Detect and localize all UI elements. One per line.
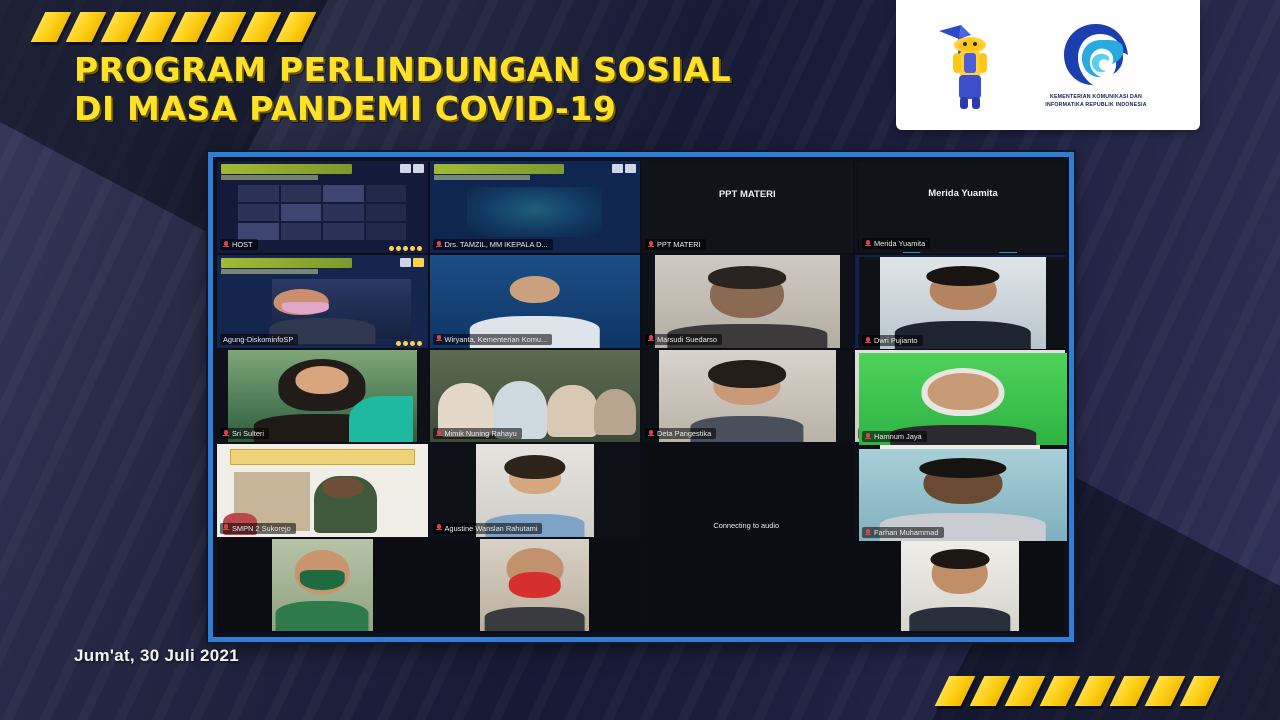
participant-name-badge: Hamnum Jaya (862, 431, 927, 442)
kominfo-logo: KEMENTERIAN KOMUNIKASI DAN INFORMATIKA R… (1031, 21, 1161, 108)
chevron-bar (171, 12, 212, 42)
participant-label: PPT MATERI (657, 240, 701, 249)
participant-tile-dwri[interactable]: Dwri Pujianto (859, 257, 1067, 349)
participant-tile-23[interactable] (642, 539, 853, 631)
title-line-1: PROGRAM PERLINDUNGAN SOSIAL (74, 50, 731, 89)
microphone-muted-icon (648, 430, 654, 438)
participant-label: HOST (232, 240, 253, 249)
participant-name-badge: Sri Sulteri (220, 428, 269, 439)
participant-label: Marsudi Suedarso (657, 335, 717, 344)
title-line-2: DI MASA PANDEMI COVID-19 (74, 89, 794, 128)
chevron-bar (970, 676, 1011, 706)
participant-label: Drs. TAMZIL, MM IKEPALA D... (445, 240, 548, 249)
microphone-muted-icon (436, 335, 442, 343)
participant-tile-hamnum[interactable]: Hamnum Jaya (859, 353, 1067, 445)
chevron-bar (1145, 676, 1186, 706)
participant-label: Wiryanta, Kementerian Komu... (445, 335, 548, 344)
chevron-bar (136, 12, 177, 42)
participant-tile-smpn2[interactable]: SMPN 2 Sukorejo (217, 444, 428, 536)
participant-name-badge: Merida Yuamita (862, 238, 930, 249)
participant-name-badge: Drs. TAMZIL, MM IKEPALA D... (433, 239, 553, 250)
institution-caption: KEMENTERIAN KOMUNIKASI DAN INFORMATIKA R… (1031, 94, 1161, 108)
merida-center-label: Merida Yuamita (859, 188, 1067, 199)
microphone-muted-icon (436, 524, 442, 532)
microphone-muted-icon (223, 430, 229, 438)
audio-status-label: Connecting to audio (713, 521, 779, 530)
participant-tile-mimik[interactable]: Mimik Nuning Rahayu (430, 350, 641, 442)
participant-label: Dwri Pujianto (874, 336, 918, 345)
participant-tile-ppt-materi[interactable]: PPT MATERI PPT MATERI (642, 161, 853, 253)
participant-tile-wiryanta[interactable]: Wiryanta, Kementerian Komu... (430, 255, 641, 347)
face-mask-shape (508, 572, 561, 598)
chevron-stripes-top (38, 12, 338, 42)
microphone-muted-icon (865, 240, 871, 248)
microphone-muted-icon (436, 241, 442, 249)
microphone-muted-icon (436, 430, 442, 438)
participant-label: Mimik Nuning Rahayu (445, 429, 517, 438)
participant-tile-tamzil[interactable]: Drs. TAMZIL, MM IKEPALA D... (430, 161, 641, 253)
participant-name-badge: Marsudi Suedarso (645, 334, 722, 345)
participant-tile-connecting-audio[interactable]: Connecting to audio (642, 444, 853, 536)
participant-name-badge: PPT MATERI (645, 239, 706, 250)
participant-tile-agustine[interactable]: Agustine Wanslan Rahutami (430, 444, 641, 536)
video-conference-frame: HOST Drs. TAMZIL, MM IKEPALA D... PPT MA… (208, 152, 1074, 642)
participant-tile-21[interactable] (217, 539, 428, 631)
participant-tile-host[interactable]: HOST (217, 161, 428, 253)
chevron-bar (276, 12, 317, 42)
participant-label: Hamnum Jaya (874, 432, 922, 441)
participant-tile-farhan[interactable]: Farhan Muhammad (859, 449, 1067, 541)
participant-tile-merida[interactable]: Merida Yuamita Merida Yuamita (859, 161, 1067, 252)
participant-tile-deta[interactable]: Deta Pangestika (642, 350, 853, 442)
chevron-bar (935, 676, 976, 706)
participant-tile-sri-sulteri[interactable]: Sri Sulteri (217, 350, 428, 442)
microphone-muted-icon (865, 337, 871, 345)
chevron-stripes-bottom (942, 676, 1258, 706)
chevron-bar (66, 12, 107, 42)
chevron-bar (31, 12, 72, 42)
page-title: PROGRAM PERLINDUNGAN SOSIAL DI MASA PAND… (74, 50, 794, 129)
logo-card: KEMENTERIAN KOMUNIKASI DAN INFORMATIKA R… (896, 0, 1200, 130)
mascot-icon (935, 17, 1005, 113)
participant-name-badge: Agustine Wanslan Rahutami (433, 523, 543, 534)
microphone-muted-icon (865, 433, 871, 441)
participant-tile-22[interactable] (430, 539, 641, 631)
video-feed (272, 539, 373, 631)
participant-name-badge: Farhan Muhammad (862, 527, 944, 538)
participant-name-badge: Agung-DiskominfoSP (220, 334, 298, 345)
audio-status-badge: Connecting to audio (710, 520, 784, 531)
participant-tile-marsudi[interactable]: Marsudi Suedarso (642, 255, 853, 347)
chevron-bar (1075, 676, 1116, 706)
kominfo-mark-icon (1060, 21, 1132, 91)
microphone-muted-icon (648, 241, 654, 249)
participant-name-badge: Dwri Pujianto (862, 335, 923, 346)
participant-tile-agung[interactable]: Agung-DiskominfoSP (217, 255, 428, 347)
participant-name-badge: HOST (220, 239, 258, 250)
slide-center-label: PPT MATERI (642, 189, 853, 200)
participant-label: Farhan Muhammad (874, 528, 939, 537)
chevron-bar (1040, 676, 1081, 706)
microphone-muted-icon (223, 241, 229, 249)
participant-name-badge: Mimik Nuning Rahayu (433, 428, 522, 439)
participant-label: Merida Yuamita (874, 239, 925, 248)
microphone-muted-icon (223, 524, 229, 532)
participant-label: Agustine Wanslan Rahutami (445, 524, 538, 533)
participant-name-badge: Deta Pangestika (645, 428, 716, 439)
microphone-muted-icon (648, 335, 654, 343)
event-date: Jum'at, 30 Juli 2021 (74, 646, 239, 666)
chevron-bar (1110, 676, 1151, 706)
face-mask-shape (282, 302, 328, 314)
participant-tile-24[interactable] (855, 539, 1066, 631)
participant-label: Sri Sulteri (232, 429, 264, 438)
video-feed (901, 539, 1019, 631)
chevron-bar (206, 12, 247, 42)
chevron-bar (1005, 676, 1046, 706)
participant-label: Agung-DiskominfoSP (223, 335, 293, 344)
microphone-muted-icon (865, 529, 871, 537)
chevron-bar (241, 12, 282, 42)
participant-name-badge: SMPN 2 Sukorejo (220, 523, 296, 534)
participant-label: SMPN 2 Sukorejo (232, 524, 291, 533)
video-feed (480, 539, 589, 631)
participant-name-badge: Wiryanta, Kementerian Komu... (433, 334, 553, 345)
chevron-bar (1180, 676, 1221, 706)
chevron-bar (101, 12, 142, 42)
participant-label: Deta Pangestika (657, 429, 711, 438)
slide-canvas: PROGRAM PERLINDUNGAN SOSIAL DI MASA PAND… (0, 0, 1280, 720)
